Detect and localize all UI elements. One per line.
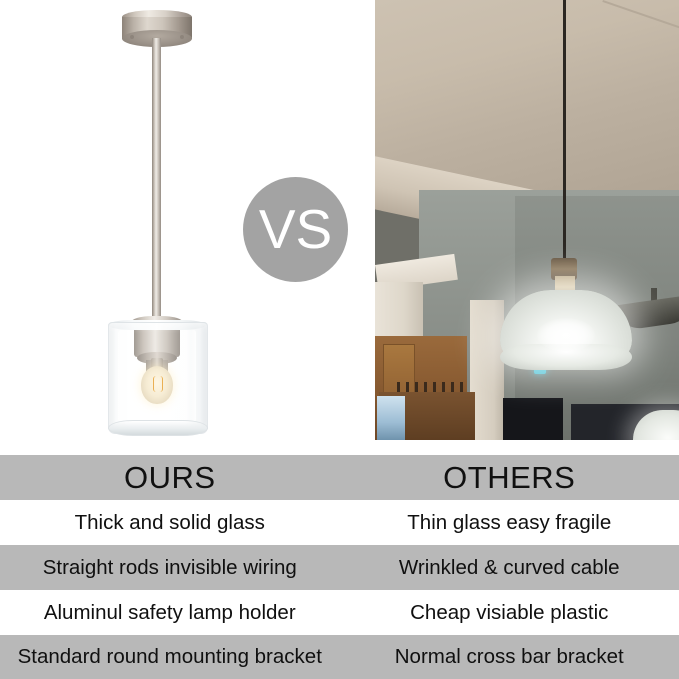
column-header-others: OTHERS — [340, 460, 679, 496]
others-room-photo — [375, 0, 679, 440]
table-row: Aluminul safety lamp holder Cheap visiab… — [0, 590, 679, 635]
glass-shade-bottom-rim — [108, 420, 208, 436]
glass-highlight-left — [118, 330, 125, 422]
product-comparison-images: VS — [0, 0, 679, 443]
cell-others-bracket: Normal cross bar bracket — [340, 645, 679, 669]
hanging-cord — [563, 0, 566, 268]
table-header-row: OURS OTHERS — [0, 455, 679, 500]
comparison-table: OURS OTHERS Thick and solid glass Thin g… — [0, 443, 679, 679]
dark-appliance — [503, 398, 563, 440]
bulb-glow — [537, 318, 595, 352]
cell-others-glass: Thin glass easy fragile — [340, 511, 679, 535]
cell-others-holder: Cheap visiable plastic — [340, 601, 679, 625]
cell-others-wiring: Wrinkled & curved cable — [340, 556, 679, 580]
table-row: Straight rods invisible wiring Wrinkled … — [0, 545, 679, 590]
table-row: Standard round mounting bracket Normal c… — [0, 635, 679, 679]
vs-badge: VS — [243, 177, 348, 282]
straight-rod — [152, 38, 161, 324]
vs-badge-label: VS — [259, 202, 332, 257]
wall-pillar — [470, 300, 504, 440]
glass-highlight-right — [191, 330, 196, 422]
cell-ours-glass: Thick and solid glass — [0, 511, 340, 535]
edison-bulb-icon — [141, 358, 173, 404]
cell-ours-wiring: Straight rods invisible wiring — [0, 556, 340, 580]
counter-items — [377, 396, 405, 440]
table-row: Thick and solid glass Thin glass easy fr… — [0, 500, 679, 545]
column-header-ours: OURS — [0, 460, 340, 496]
cell-ours-holder: Aluminul safety lamp holder — [0, 601, 340, 625]
cell-ours-bracket: Standard round mounting bracket — [0, 645, 340, 669]
comparison-infographic: VS OURS OTHERS Thick and solid glass Thi… — [0, 0, 679, 679]
